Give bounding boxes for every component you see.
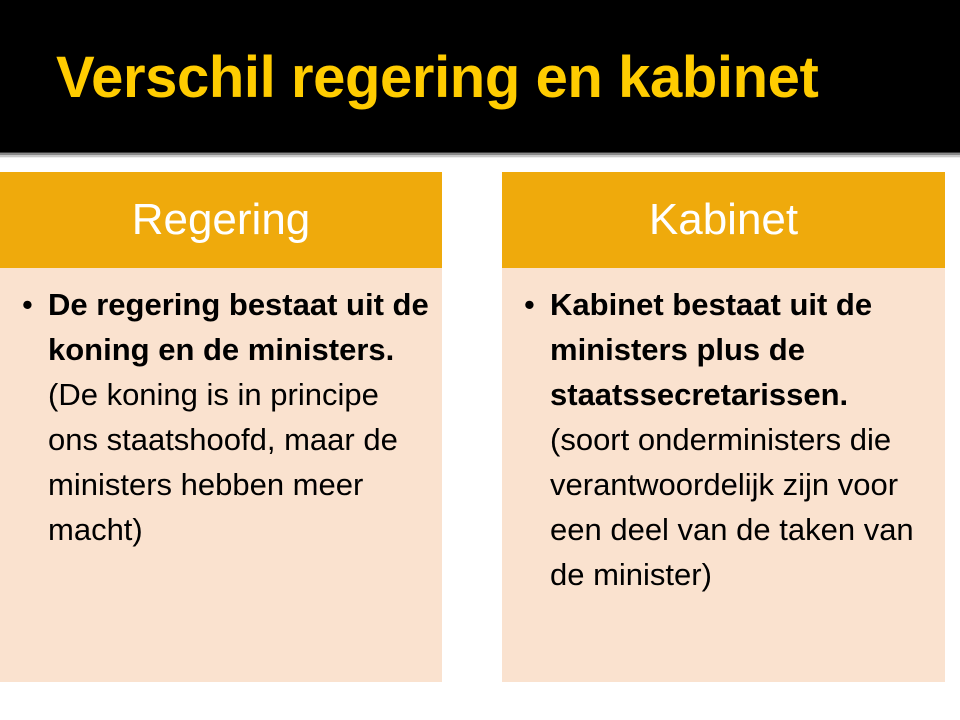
column-body-regering: • De regering bestaat uit de koning en d… xyxy=(0,268,442,552)
column-header-label: Regering xyxy=(132,195,311,245)
bullet-text-bold: Kabinet bestaat uit de ministers plus de… xyxy=(550,287,872,412)
title-divider xyxy=(0,152,960,158)
column-regering: Regering • De regering bestaat uit de ko… xyxy=(0,172,442,682)
bullet-text-bold: De regering bestaat uit de koning en de … xyxy=(48,287,429,367)
column-body-kabinet: • Kabinet bestaat uit de ministers plus … xyxy=(502,268,945,597)
bullet-text-normal: (De koning is in principe ons staatshoof… xyxy=(48,377,398,547)
title-banner: Verschil regering en kabinet xyxy=(0,0,960,152)
bullet-text-normal: (soort onderministers die verantwoordeli… xyxy=(550,422,914,592)
bullet-text: De regering bestaat uit de koning en de … xyxy=(48,287,429,547)
column-header-kabinet: Kabinet xyxy=(502,172,945,268)
column-kabinet: Kabinet • Kabinet bestaat uit de ministe… xyxy=(502,172,945,682)
column-header-label: Kabinet xyxy=(649,195,798,245)
bullet-icon: • xyxy=(22,282,33,327)
bullet-text: Kabinet bestaat uit de ministers plus de… xyxy=(550,287,914,592)
slide: Verschil regering en kabinet Regering • … xyxy=(0,0,960,720)
page-title: Verschil regering en kabinet xyxy=(56,44,916,112)
bullet-icon: • xyxy=(524,282,535,327)
column-header-regering: Regering xyxy=(0,172,442,268)
list-item: • Kabinet bestaat uit de ministers plus … xyxy=(514,282,935,597)
list-item: • De regering bestaat uit de koning en d… xyxy=(12,282,432,552)
